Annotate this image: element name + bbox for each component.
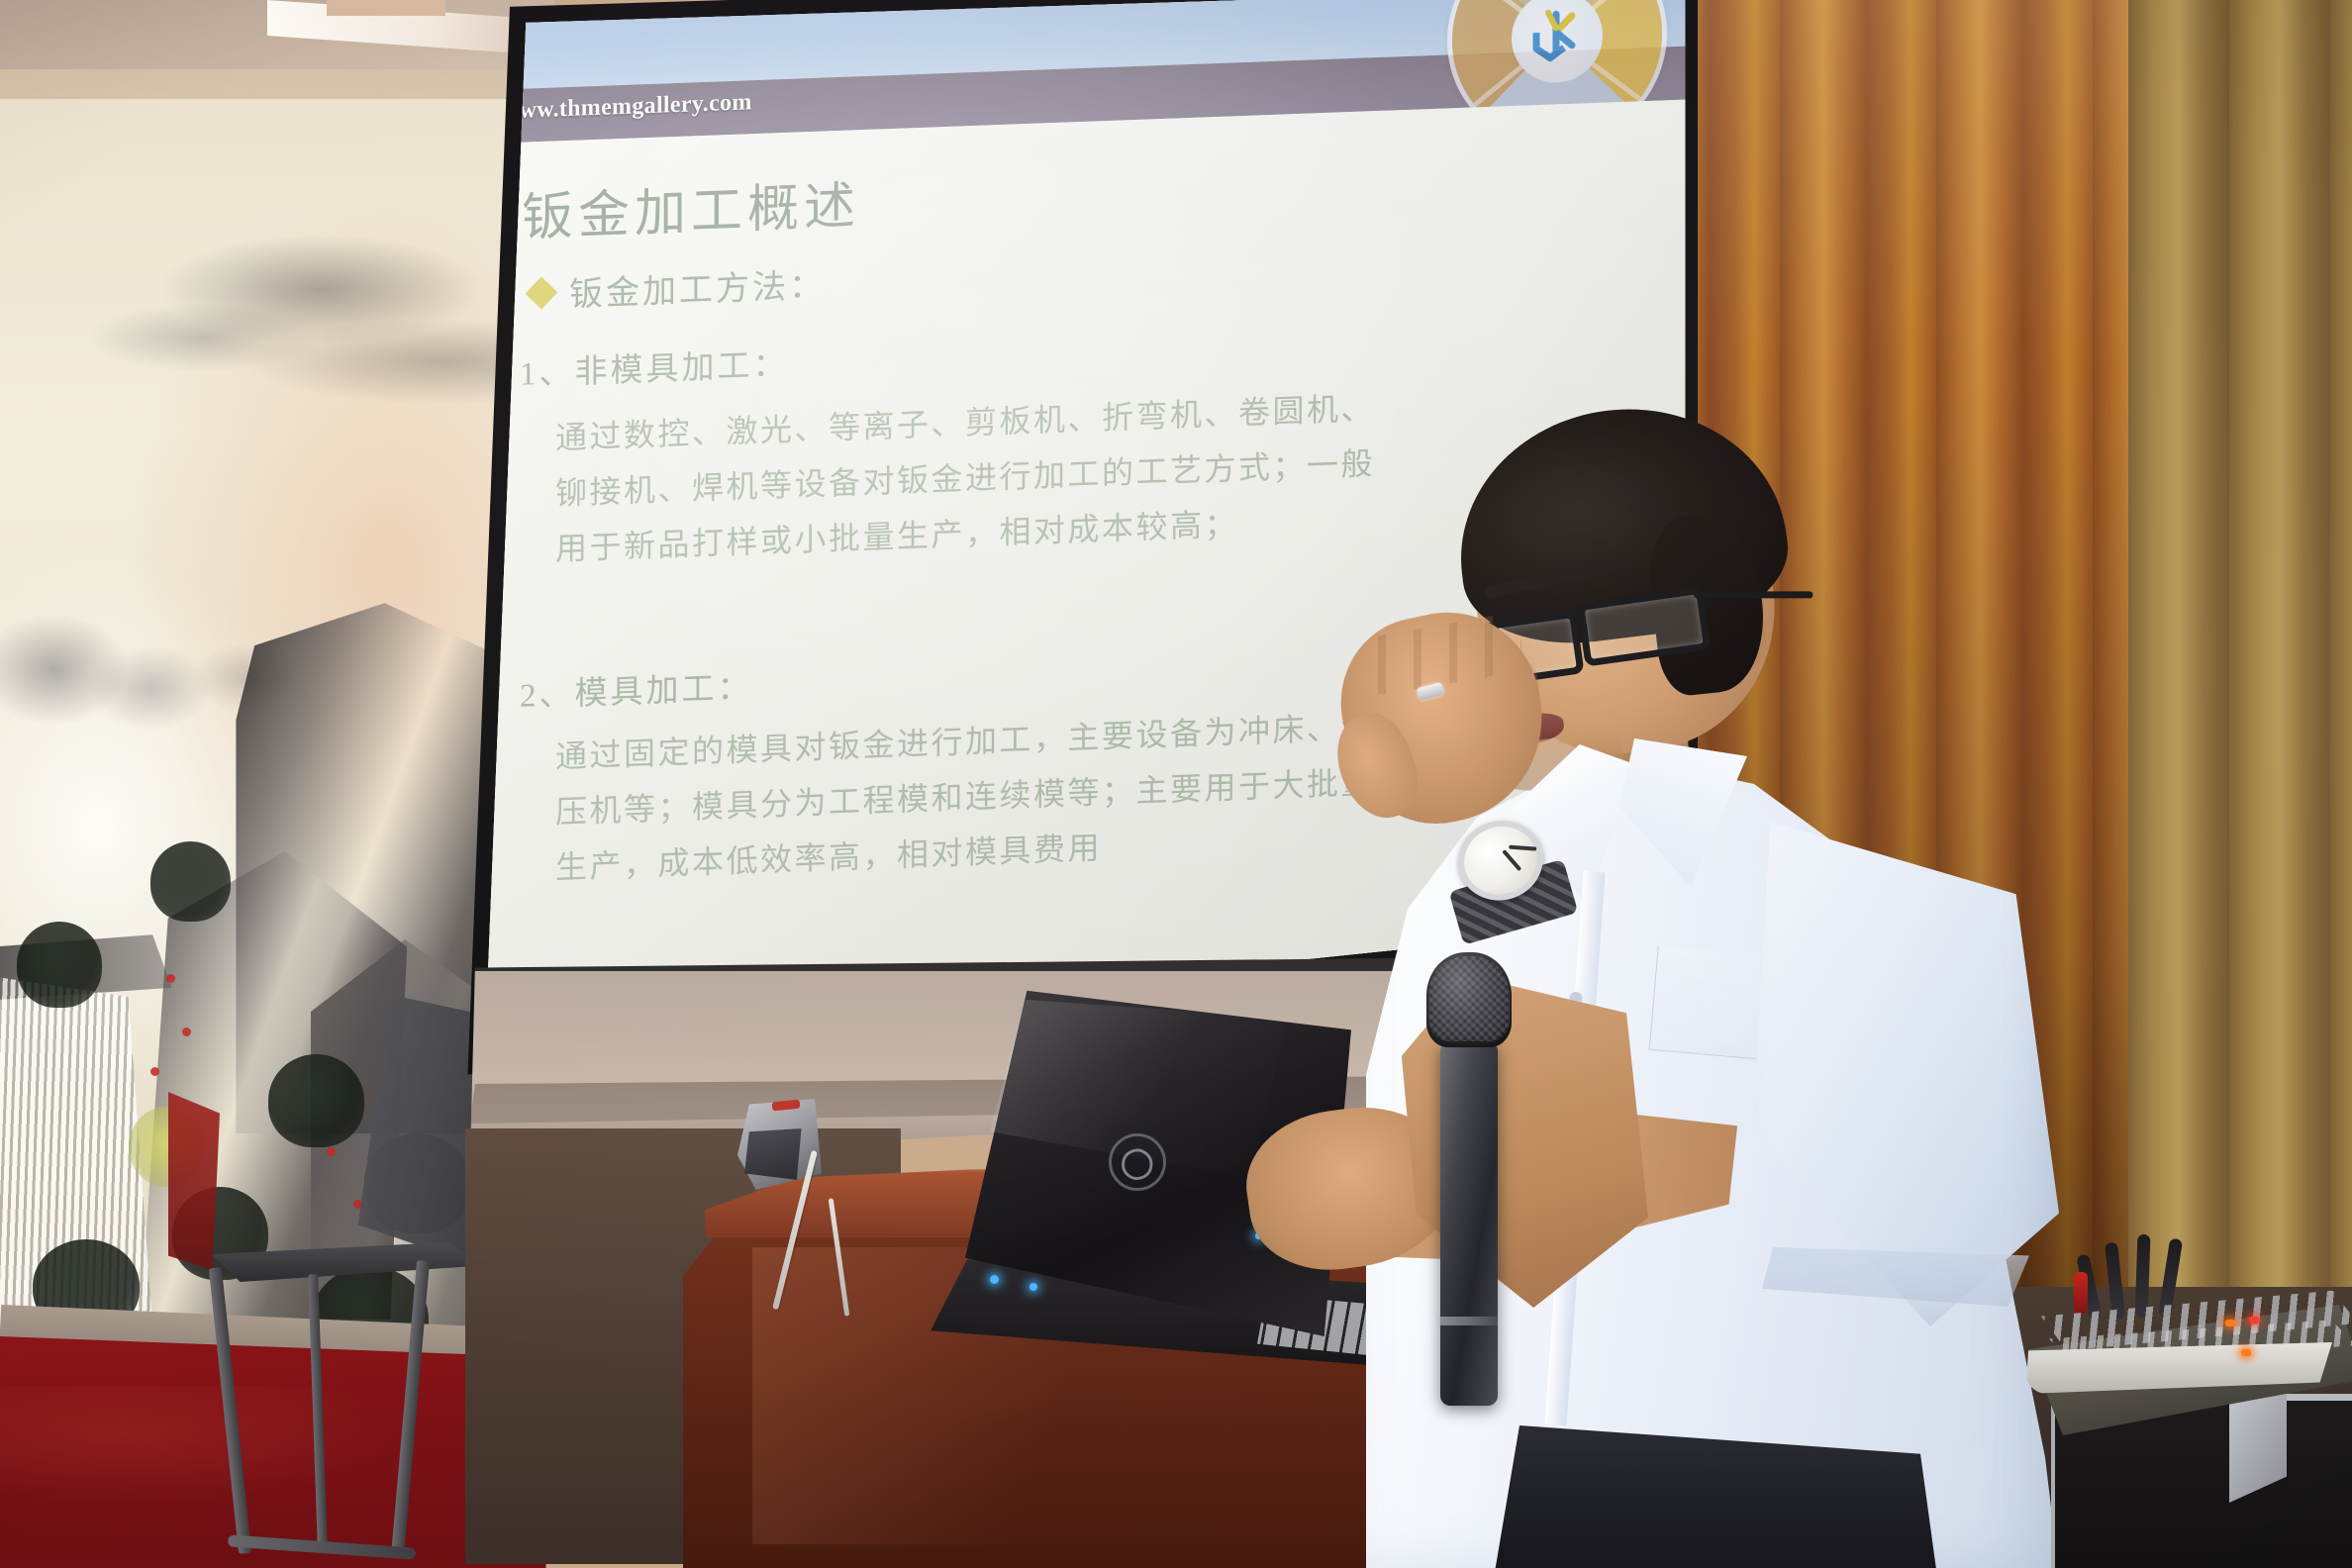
slide-bullet-text: 钣金加工方法： bbox=[569, 257, 826, 315]
watch-hour-hand bbox=[1502, 849, 1521, 871]
ceiling-light-cove-inner bbox=[327, 0, 445, 16]
stage-curtain-far bbox=[2128, 0, 2352, 1307]
slide-item-paragraph-1: 通过数控、激光、等离子、剪板机、折弯机、卷圆机、铆接机、焊机等设备对钣金进行加工… bbox=[555, 379, 1397, 576]
microphone-ring bbox=[1440, 1317, 1498, 1325]
mixer-signal-led bbox=[2225, 1320, 2235, 1326]
slide-item-paragraph-2: 通过固定的模具对钣金进行加工，主要设备为冲床、油压机等；模具分为工程模和连续模等… bbox=[555, 698, 1397, 895]
chair-seat bbox=[200, 1242, 487, 1282]
photo-scene: www.thmemgallery.com bbox=[0, 0, 2352, 1568]
shirt-pocket bbox=[1649, 945, 1775, 1060]
laptop-power-led bbox=[990, 1275, 999, 1284]
chair-red-object bbox=[168, 1092, 220, 1270]
receiver-unit-face bbox=[744, 1128, 804, 1182]
logo-center-disc bbox=[1512, 0, 1603, 84]
red-cable bbox=[2074, 1272, 2088, 1314]
handheld-microphone[interactable] bbox=[1421, 990, 1510, 1406]
eyeglass-temple bbox=[1694, 591, 1813, 598]
chair-leg bbox=[391, 1260, 430, 1557]
slide-item-heading-2: 2、模具加工： bbox=[520, 660, 753, 717]
mural-pine-tree bbox=[150, 841, 231, 921]
folding-chair bbox=[168, 995, 505, 1554]
slide-title: 钣金加工概述 bbox=[522, 163, 860, 250]
slide-item-heading-1: 1、非模具加工： bbox=[520, 338, 789, 395]
audio-cable bbox=[2135, 1234, 2151, 1318]
mural-pine-tree bbox=[17, 922, 102, 1008]
chair-leg bbox=[209, 1267, 251, 1554]
eyeglass-lens bbox=[1577, 586, 1712, 666]
microphone-body bbox=[1440, 1041, 1498, 1406]
microphone-grille bbox=[1428, 956, 1510, 1041]
audio-cable bbox=[2105, 1242, 2125, 1321]
watch-minute-hand bbox=[1509, 845, 1536, 851]
laptop-status-led bbox=[1029, 1283, 1037, 1291]
diamond-cluster-icon bbox=[528, 278, 555, 307]
logo-k-glyph-icon bbox=[1522, 1, 1592, 73]
mixer-peak-led bbox=[2249, 1317, 2259, 1323]
chair-leg bbox=[308, 1274, 328, 1547]
mixer-signal-led bbox=[2241, 1349, 2251, 1356]
mural-sky bbox=[0, 99, 515, 576]
mixer-cable-bundle bbox=[2079, 1232, 2207, 1312]
